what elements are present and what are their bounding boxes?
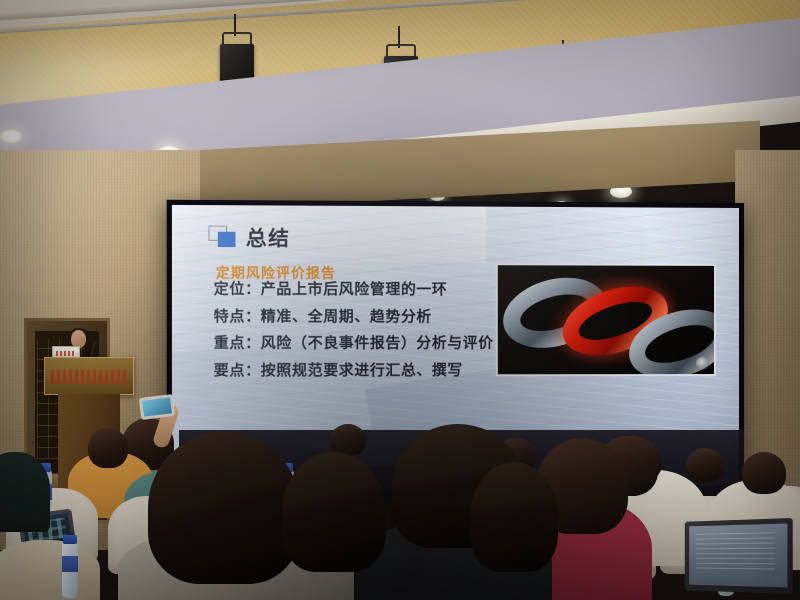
water-bottle — [62, 542, 78, 598]
audience-head — [148, 432, 300, 584]
slide-bullet-list: 定位：产品上市后风险管理的一环 特点：精准、全周期、趋势分析 重点：风险（不良事… — [214, 283, 523, 391]
blue-square-icon — [208, 225, 236, 248]
conference-hall-photo: 总结 定期风险评价报告 定位：产品上市后风险管理的一环 特点：精准、全周期、趋势… — [0, 0, 800, 600]
slide-bullet: 重点：风险（不良事件报告）分析与评价 — [214, 337, 523, 352]
audience-head — [742, 452, 786, 494]
audience-body — [0, 540, 100, 600]
slide-bullet: 特点：精准、全周期、趋势分析 — [214, 310, 523, 325]
audience-head — [282, 452, 386, 572]
laptop-device[interactable] — [685, 518, 793, 594]
audience-head — [470, 462, 558, 572]
slide-bullet: 要点：按照规范要求进行汇总、撰写 — [214, 364, 523, 379]
photo-watermark — [696, 357, 709, 370]
slide-bullet: 定位：产品上市后风险管理的一环 — [214, 283, 523, 298]
slide-title: 总结 — [246, 222, 291, 252]
smartphone-camera — [139, 394, 175, 420]
audience-head — [686, 448, 724, 482]
downlight — [0, 130, 22, 143]
audience-head — [88, 428, 128, 468]
slide-header: 总结 — [208, 221, 290, 251]
podium — [44, 357, 134, 395]
chain-links-photo — [496, 263, 716, 376]
podium-logo — [51, 370, 127, 384]
slide-subtitle: 定期风险评价报告 — [216, 261, 336, 282]
